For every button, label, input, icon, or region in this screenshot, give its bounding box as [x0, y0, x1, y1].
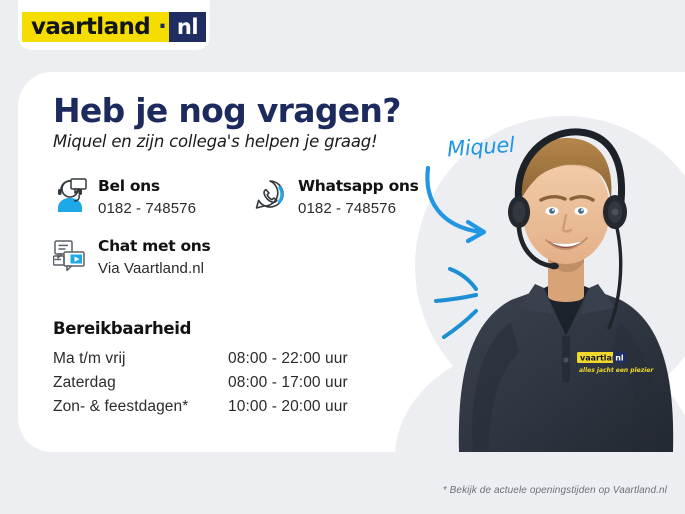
- availability-day: Zaterdag: [53, 374, 228, 398]
- page-subtitle: Miquel en zijn collega's helpen je graag…: [53, 132, 453, 151]
- vaartland-logo-icon: vaartland · nl: [22, 12, 206, 42]
- contact-value: Via Vaartland.nl: [98, 260, 210, 277]
- availability-hours: 10:00 - 20:00 uur: [228, 398, 348, 422]
- availability-title: Bereikbaarheid: [53, 319, 453, 338]
- page-title: Heb je nog vragen?: [53, 92, 453, 130]
- availability-section: Bereikbaarheid Ma t/m vrij 08:00 - 22:00…: [53, 319, 453, 422]
- contact-value: 0182 - 748576: [298, 200, 419, 217]
- availability-hours: 08:00 - 22:00 uur: [228, 350, 348, 374]
- chat-bubbles-icon: [53, 238, 87, 274]
- headset-person-icon: [53, 178, 87, 214]
- availability-hours: 08:00 - 17:00 uur: [228, 374, 348, 398]
- contact-title: Whatsapp ons: [298, 177, 419, 195]
- contact-item-call[interactable]: Bel ons 0182 - 748576: [53, 177, 225, 217]
- whatsapp-icon: [253, 178, 287, 214]
- contact-methods: Bel ons 0182 - 748576 Whatsapp on: [53, 177, 453, 297]
- main-content: Heb je nog vragen? Miquel en zijn colleg…: [53, 92, 453, 422]
- contact-value: 0182 - 748576: [98, 200, 196, 217]
- svg-text:nl: nl: [615, 354, 624, 363]
- contact-item-chat[interactable]: Chat met ons Via Vaartland.nl: [53, 237, 225, 277]
- logo-wordmark: vaartland: [22, 12, 158, 42]
- availability-day: Zon- & feestdagen*: [53, 398, 228, 422]
- table-row: Ma t/m vrij 08:00 - 22:00 uur: [53, 350, 348, 374]
- footnote-text: * Bekijk de actuele openingstijden op Va…: [443, 485, 667, 496]
- contact-title: Bel ons: [98, 177, 160, 195]
- brand-logo[interactable]: vaartland · nl: [18, 0, 210, 50]
- contact-item-whatsapp[interactable]: Whatsapp ons 0182 - 748576: [253, 177, 425, 217]
- logo-separator-dot: ·: [158, 12, 169, 42]
- miquel-name-label: Miquel: [446, 133, 515, 162]
- promo-banner: vaartland nl alles jacht een plezier Miq…: [0, 0, 685, 514]
- table-row: Zon- & feestdagen* 10:00 - 20:00 uur: [53, 398, 348, 422]
- logo-tld: nl: [169, 12, 206, 42]
- availability-table: Ma t/m vrij 08:00 - 22:00 uur Zaterdag 0…: [53, 350, 348, 422]
- svg-text:alles jacht een plezier: alles jacht een plezier: [579, 367, 654, 374]
- employee-photo: vaartland nl alles jacht een plezier: [449, 72, 679, 452]
- availability-day: Ma t/m vrij: [53, 350, 228, 374]
- table-row: Zaterdag 08:00 - 17:00 uur: [53, 374, 348, 398]
- content-card: vaartland nl alles jacht een plezier Miq…: [18, 72, 685, 452]
- contact-title: Chat met ons: [98, 237, 210, 255]
